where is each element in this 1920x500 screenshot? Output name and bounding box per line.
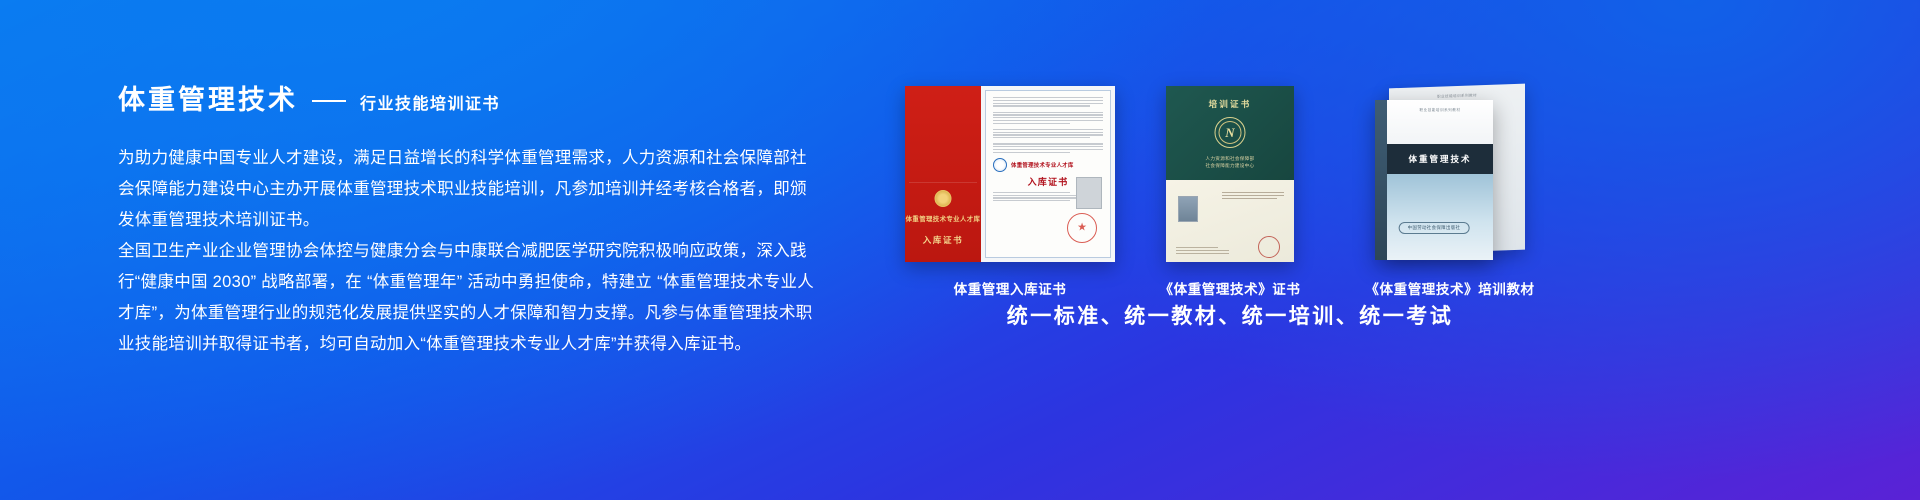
talent-pool-inner-page: 体重管理技术专业人才库 入库证书 ★ — [981, 86, 1115, 262]
talent-pool-booklet: 体重管理技术专业人才库 入库证书 — [905, 86, 1115, 262]
page-title-subtitle: 行业技能培训证书 — [360, 90, 500, 114]
training-inner-page — [1166, 180, 1294, 262]
intro-paragraph-2: 全国卫生产业企业管理协会体控与健康分会与中康联合减肥医学研究院积极响应政策，深入… — [118, 236, 818, 360]
talent-pool-red-cover: 体重管理技术专业人才库 入库证书 — [905, 86, 981, 262]
inner-letterhead: 体重管理技术专业人才库 — [993, 158, 1103, 172]
official-seal-icon — [1258, 236, 1280, 258]
training-cover-title: 培训证书 — [1166, 98, 1294, 110]
hero-banner: 体重管理技术 行业技能培训证书 为助力健康中国专业人才建设，满足日益增长的科学体… — [0, 0, 1920, 500]
holder-photo — [1178, 196, 1198, 222]
paragraph-lines-cn-2 — [993, 129, 1103, 139]
certificate-image-talent-pool: 体重管理技术专业人才库 入库证书 — [905, 86, 1115, 262]
textbook-front-cover: 职业技能培训系列教材 体重管理技术 中国劳动社会保障出版社 — [1375, 100, 1493, 260]
training-certificate-booklet: 培训证书 N 人力资源和社会保障部 社会保障能力建设中心 — [1166, 86, 1294, 262]
national-emblem-icon: N — [1215, 117, 1246, 148]
certificate-item-talent-pool[interactable]: 体重管理技术专业人才库 入库证书 — [900, 86, 1120, 298]
textbook-cover-art — [1387, 174, 1493, 260]
certificate-item-training[interactable]: 培训证书 N 人力资源和社会保障部 社会保障能力建设中心 — [1120, 86, 1340, 298]
holder-detail-lines — [1176, 247, 1236, 254]
page-title-main: 体重管理技术 — [118, 78, 298, 117]
hero-tagline: 统一标准、统一教材、统一培训、统一考试 — [900, 300, 1560, 330]
certificate-body-lines — [1222, 192, 1284, 199]
certificate-caption: 体重管理入库证书 — [954, 278, 1067, 298]
issuing-authority-line1: 人力资源和社会保障部 — [1206, 156, 1255, 161]
certificate-image-training: 培训证书 N 人力资源和社会保障部 社会保障能力建设中心 — [1166, 86, 1294, 262]
textbook-title: 体重管理技术 — [1387, 144, 1493, 174]
certificate-image-textbook: 职业技能培训系列教材 职业技能培训系列教材 体重管理技术 中国劳动社会保障出版社 — [1375, 86, 1525, 262]
textbook-title-band: 体重管理技术 — [1387, 144, 1493, 174]
cover-title: 入库证书 — [905, 234, 981, 246]
certificate-caption: 《体重管理技术》培训教材 — [1365, 278, 1534, 298]
hero-text-block: 体重管理技术 行业技能培训证书 为助力健康中国专业人才建设，满足日益增长的科学体… — [118, 78, 818, 360]
page-title: 体重管理技术 行业技能培训证书 — [118, 78, 818, 117]
textbook-stack: 职业技能培训系列教材 职业技能培训系列教材 体重管理技术 中国劳动社会保障出版社 — [1375, 86, 1525, 262]
inner-page-content: 体重管理技术专业人才库 入库证书 ★ — [985, 90, 1111, 258]
title-divider-dash — [312, 100, 346, 102]
certificate-item-textbook[interactable]: 职业技能培训系列教材 职业技能培训系列教材 体重管理技术 中国劳动社会保障出版社… — [1340, 86, 1560, 298]
inner-org-name: 体重管理技术专业人才库 — [1011, 161, 1074, 169]
certificate-caption: 《体重管理技术》证书 — [1160, 278, 1301, 298]
paragraph-lines-cn — [993, 97, 1103, 107]
textbook-series-label: 职业技能培训系列教材 — [1387, 108, 1493, 113]
paragraph-lines-en-2 — [993, 143, 1103, 153]
red-seal-icon: ★ — [1067, 213, 1097, 243]
issuing-authority-line2: 社会保障能力建设中心 — [1206, 163, 1255, 168]
textbook-spine — [1375, 100, 1387, 260]
issuing-authority: 人力资源和社会保障部 社会保障能力建设中心 — [1166, 155, 1294, 169]
intro-paragraph-1: 为助力健康中国专业人才建设，满足日益增长的科学体重管理需求，人力资源和社会保障部… — [118, 143, 818, 236]
gold-emblem-icon — [935, 190, 952, 207]
textbook-publisher: 中国劳动社会保障出版社 — [1399, 222, 1470, 234]
talent-pool-logo-icon — [993, 158, 1007, 172]
paragraph-lines-en — [993, 112, 1103, 124]
seal-star-icon: ★ — [1077, 223, 1087, 234]
cover-org-name: 体重管理技术专业人才库 — [905, 214, 981, 223]
training-green-cover: 培训证书 N 人力资源和社会保障部 社会保障能力建设中心 — [1166, 86, 1294, 180]
certificate-gallery: 体重管理技术专业人才库 入库证书 — [900, 86, 1560, 298]
badge-letter: N — [1225, 125, 1234, 141]
recipient-photo-placeholder — [1076, 177, 1102, 209]
